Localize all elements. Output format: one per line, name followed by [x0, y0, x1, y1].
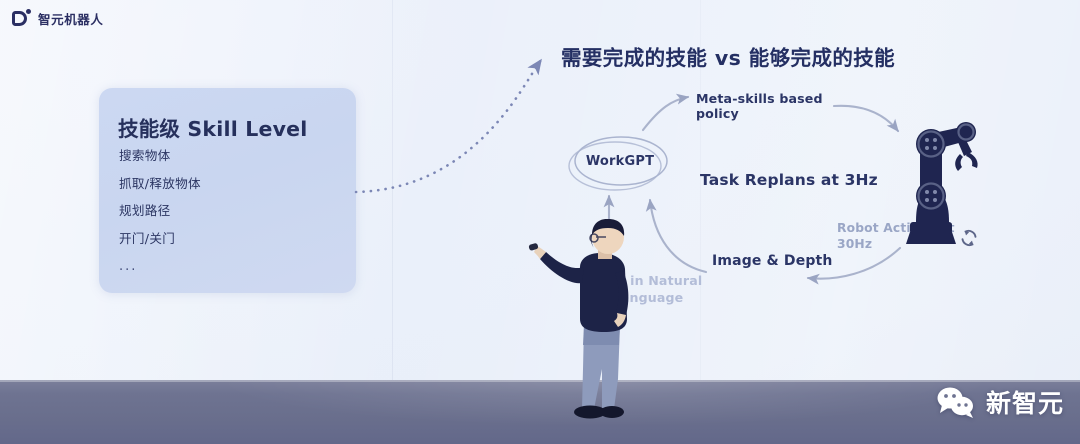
brand-logo: 智元机器人 [12, 9, 104, 28]
meta-skills-label: Meta-skills based policy [696, 91, 846, 122]
workgpt-node-label: WorkGPT [575, 154, 665, 170]
screenshot-root: 智元机器人 技能级 Skill Level 搜索物体 抓取/释放物体 规划路径 … [0, 0, 1080, 444]
wechat-bubbles-icon [935, 386, 977, 418]
watermark-text: 新智元 [986, 384, 1064, 420]
image-depth-label: Image & Depth [712, 252, 832, 270]
dotted-curve-arrow-icon [356, 60, 541, 192]
task-replans-label: Task Replans at 3Hz [700, 171, 878, 190]
refresh-loop-icon [957, 226, 981, 250]
speaker-person [528, 219, 664, 425]
channel-watermark: 新智元 [935, 384, 1064, 420]
zhiyuan-d-mark-icon [12, 9, 31, 28]
arrow-workgpt-to-metaskills [643, 97, 688, 130]
brand-name: 智元机器人 [38, 9, 104, 28]
